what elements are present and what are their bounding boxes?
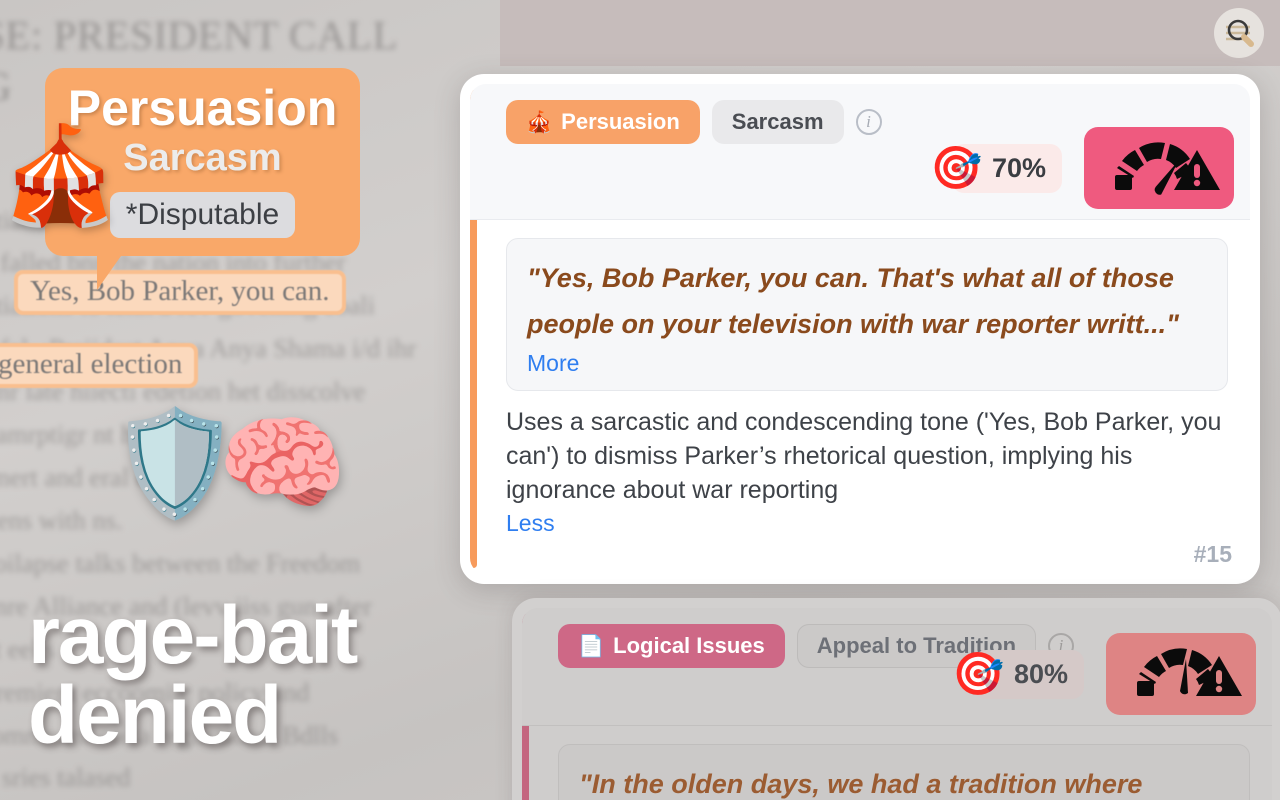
confidence-score: 🎯 70% xyxy=(952,144,1062,193)
highlighted-phrase[interactable]: general election xyxy=(0,343,198,388)
card-body: "In the olden days, we had a tradition w… xyxy=(522,726,1272,800)
shield-and-brain-icon: 🛡️🧠 xyxy=(110,412,325,516)
theater-masks-icon: 🎪 xyxy=(0,128,120,224)
gauge-warning-icon xyxy=(1120,643,1242,705)
category-label: Logical Issues xyxy=(613,633,765,659)
quote-text: "Yes, Bob Parker, you can. That's what a… xyxy=(527,255,1207,348)
app-header-bar xyxy=(500,0,1280,66)
search-icon[interactable] xyxy=(1214,8,1264,58)
card-index-label: #15 xyxy=(1194,541,1232,568)
background-headline-line-0: SE: PRESIDENT CALL xyxy=(0,10,518,61)
severity-badge xyxy=(1106,633,1256,715)
info-circle-icon[interactable]: i xyxy=(856,109,882,135)
severity-badge xyxy=(1084,127,1234,209)
screen: SE: PRESIDENT CALL G otiatiar o foldi la… xyxy=(0,0,1280,800)
dart-target-icon: 🎯 xyxy=(952,653,1004,695)
quote-text: "In the olden days, we had a tradition w… xyxy=(579,761,1229,800)
quote-more-link[interactable]: More xyxy=(527,350,579,377)
quote-box: "In the olden days, we had a tradition w… xyxy=(558,744,1250,800)
category-badge[interactable]: 🎪 Persuasion xyxy=(506,100,700,144)
confidence-score: 🎯 80% xyxy=(974,650,1084,699)
overlay-caption: rage-bait denied xyxy=(28,596,468,757)
background-body-line: coilapse talks between the Freedom xyxy=(0,542,518,585)
category-label: Persuasion xyxy=(561,109,680,135)
explanation-less-link[interactable]: Less xyxy=(506,510,555,537)
background-body-line: h sries talased xyxy=(0,756,518,799)
highlighted-phrase[interactable]: Yes, Bob Parker, you can. xyxy=(14,270,346,315)
quote-box: "Yes, Bob Parker, you can. That's what a… xyxy=(506,238,1228,391)
card-header: 📄 Logical Issues Appeal to Tradition i 🎯… xyxy=(522,608,1272,726)
dart-target-icon: 🎯 xyxy=(930,147,982,189)
theater-masks-icon: 🎪 xyxy=(526,112,552,133)
page-document-icon: 📄 xyxy=(578,636,604,657)
confidence-value: 70% xyxy=(992,153,1046,184)
technique-chip[interactable]: Sarcasm xyxy=(712,100,844,144)
confidence-value: 80% xyxy=(1014,659,1068,690)
card-body: "Yes, Bob Parker, you can. That's what a… xyxy=(470,220,1250,574)
explanation-text: Uses a sarcastic and condescending tone … xyxy=(506,405,1228,508)
bubble-tag: *Disputable xyxy=(110,192,295,238)
gauge-warning-icon xyxy=(1098,137,1220,199)
analysis-card-primary[interactable]: 🎪 Persuasion Sarcasm i 🎯 70% xyxy=(460,74,1260,584)
category-badge[interactable]: 📄 Logical Issues xyxy=(558,624,785,668)
card-header: 🎪 Persuasion Sarcasm i 🎯 70% xyxy=(470,84,1250,220)
analysis-card-secondary[interactable]: 📄 Logical Issues Appeal to Tradition i 🎯… xyxy=(512,598,1280,800)
